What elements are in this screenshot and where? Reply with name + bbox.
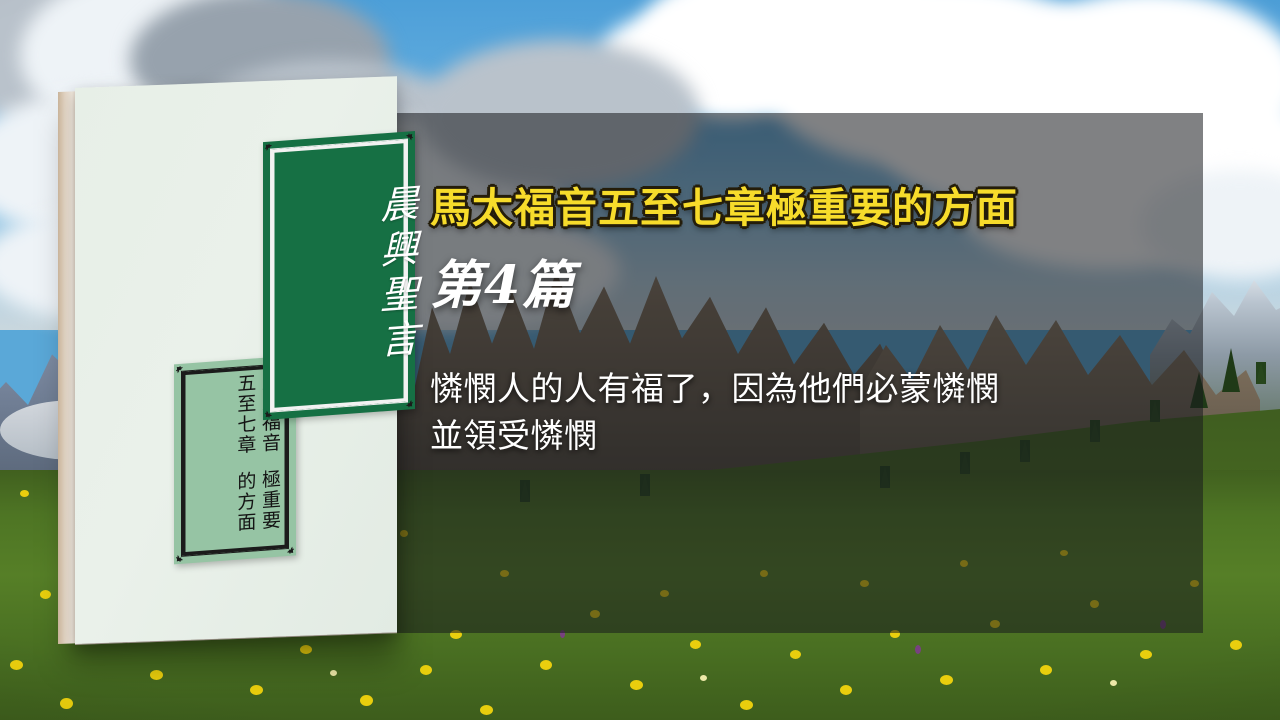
verse-text: 憐憫人的人有福了，因為他們必蒙憐憫 並領受憐憫 (430, 366, 1150, 460)
book-title-panel: 晨興聖言 (263, 131, 415, 420)
ornament-corner-icon (396, 390, 414, 409)
ornament-corner-icon (264, 142, 282, 161)
book-cover-graphic: 馬太福音五至七章 極重要的方面 晨興聖言 (58, 88, 398, 650)
text-block: 馬太福音五至七章極重要的方面 第4篇 憐憫人的人有福了，因為他們必蒙憐憫 並領受… (430, 185, 1170, 460)
book-front-face: 馬太福音五至七章 極重要的方面 晨興聖言 (75, 76, 397, 644)
conifer-tree (1222, 348, 1240, 392)
book-series-title-calligraphy: 晨興聖言 (263, 157, 415, 400)
main-title: 馬太福音五至七章極重要的方面 (430, 185, 1170, 232)
ornament-corner-icon (396, 132, 414, 151)
issue-number-label: 第4篇 (430, 260, 1170, 312)
verse-line-1: 憐憫人的人有福了，因為他們必蒙憐憫 (430, 366, 1150, 413)
slide-canvas: 馬太福音五至七章極重要的方面 第4篇 憐憫人的人有福了，因為他們必蒙憐憫 並領受… (0, 0, 1280, 720)
ornament-corner-icon (264, 400, 282, 419)
verse-line-2: 並領受憐憫 (430, 413, 1150, 460)
conifer-tree (1256, 362, 1266, 384)
book-subtitle-col-left: 極重要的方面 (233, 469, 282, 546)
